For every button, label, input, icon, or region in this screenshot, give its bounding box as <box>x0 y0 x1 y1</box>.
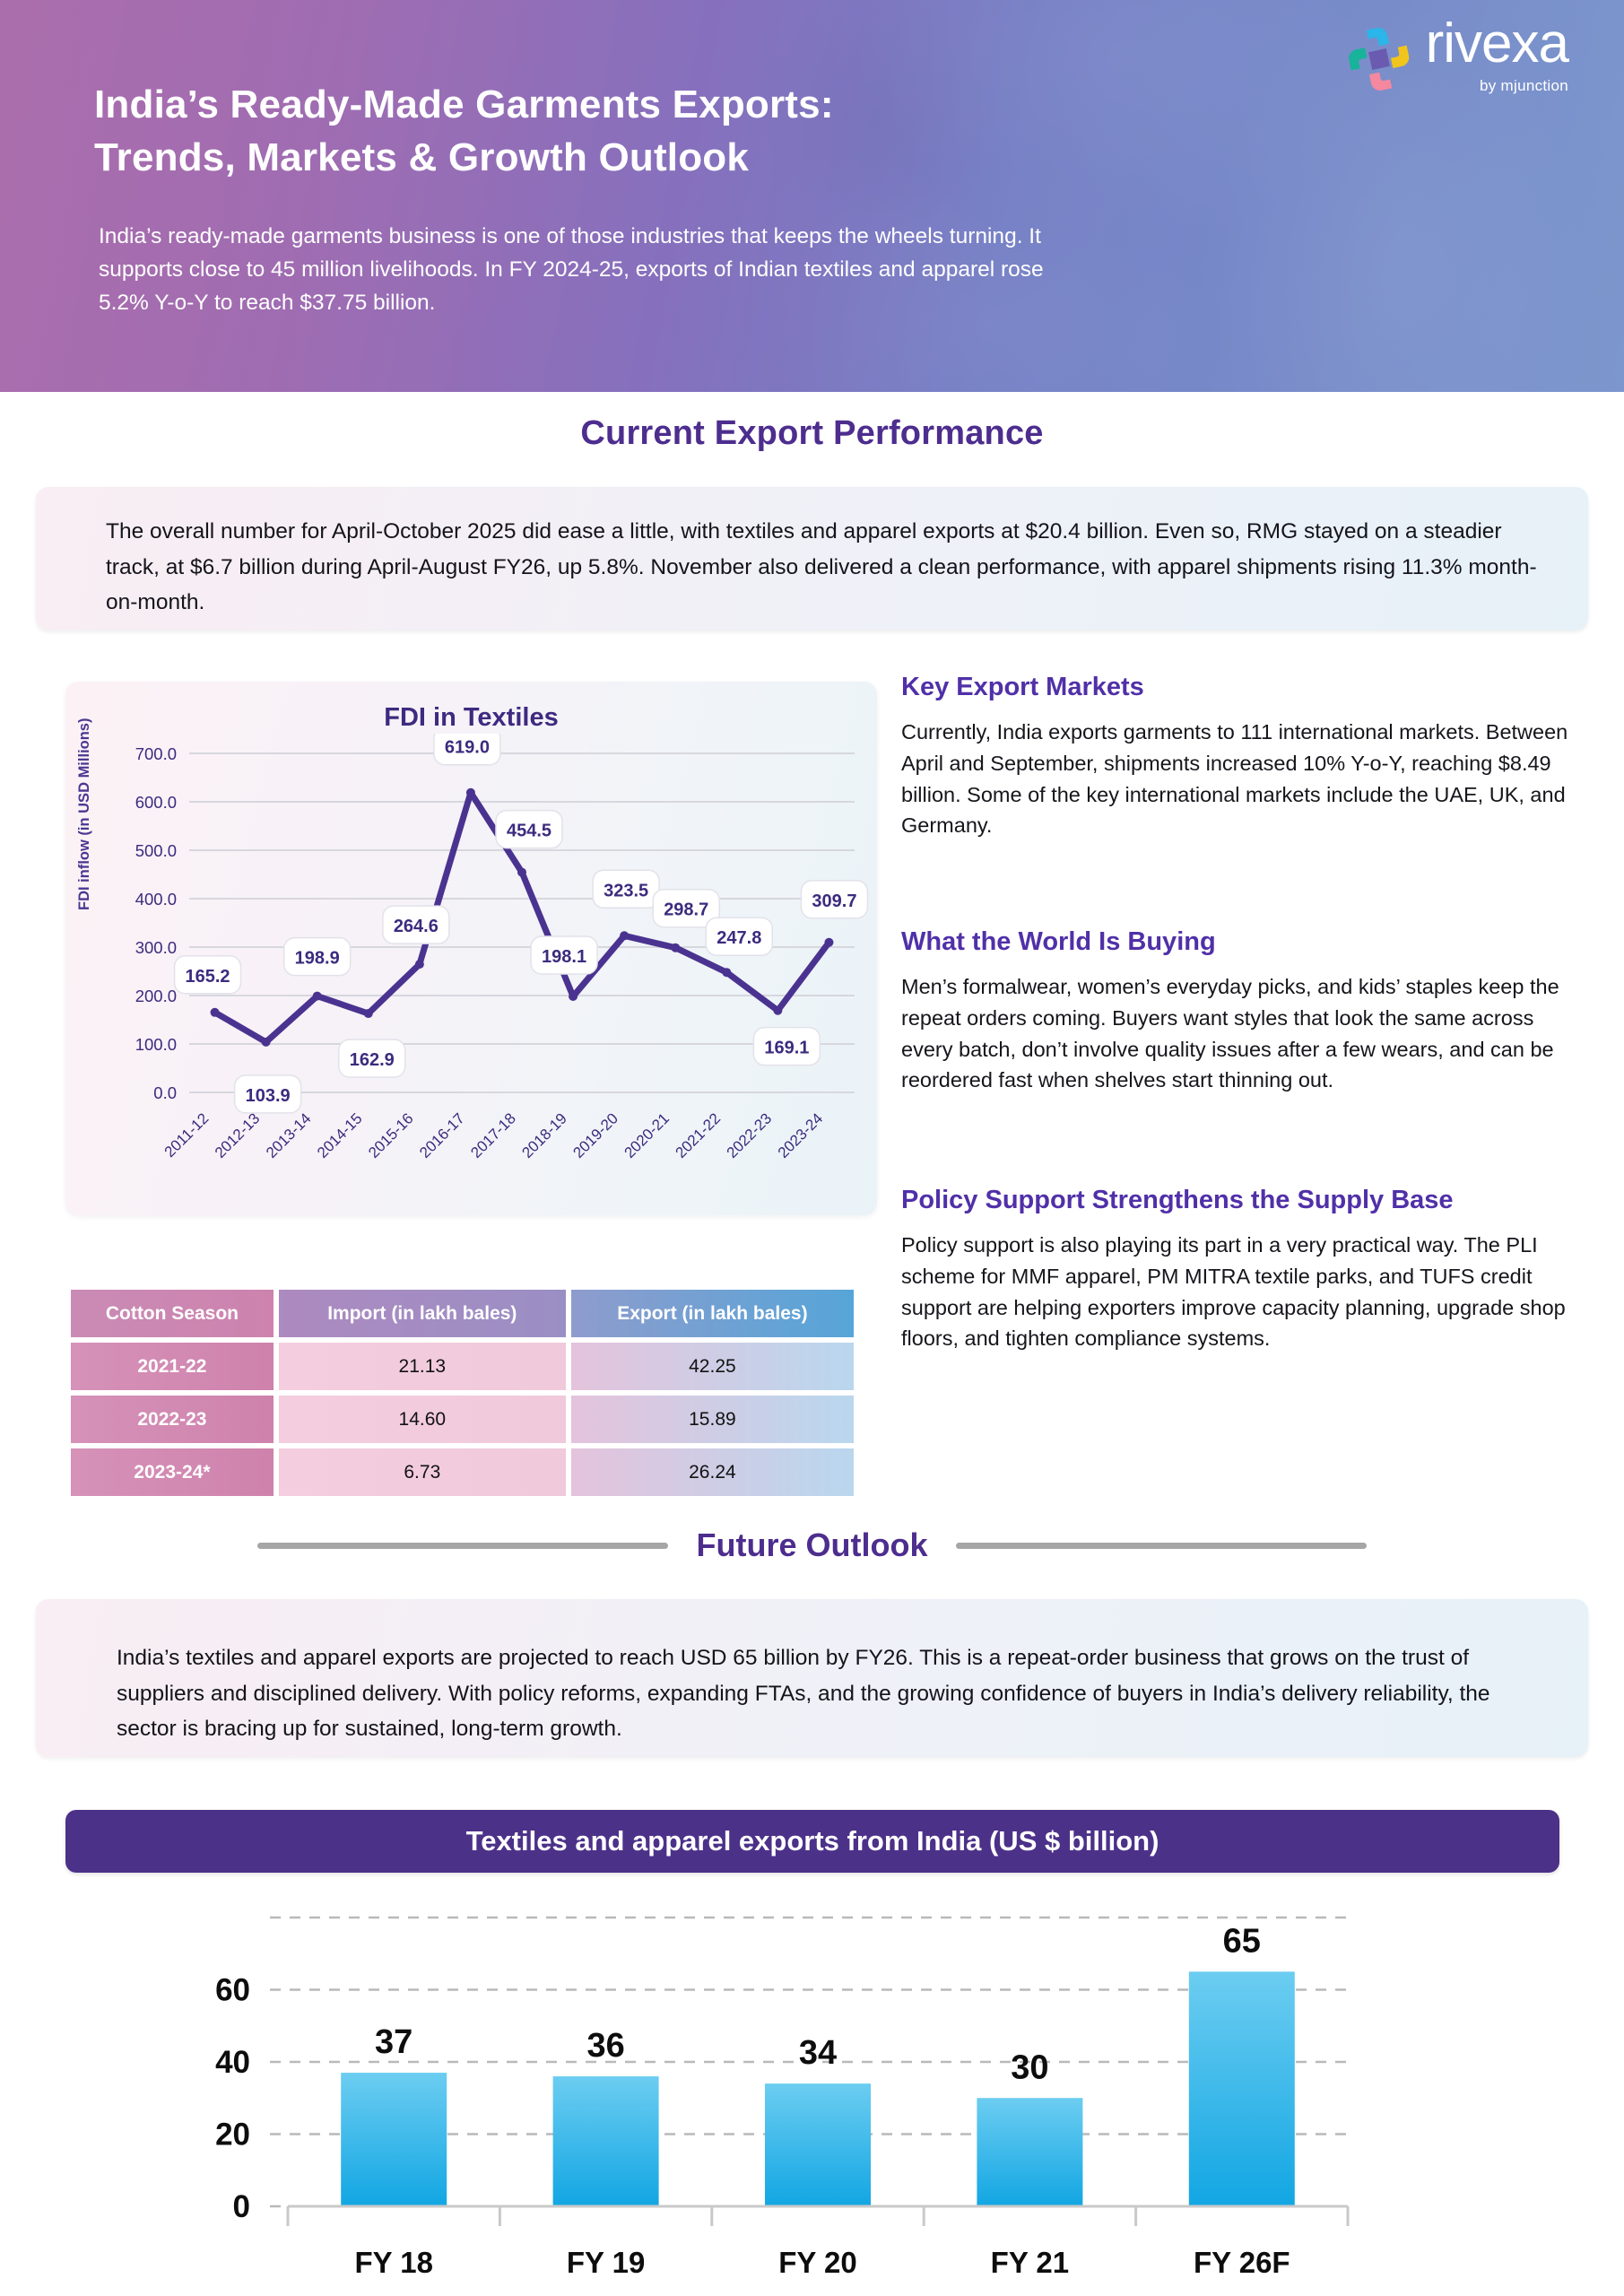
header-subtitle: India’s ready-made garments business is … <box>99 220 1094 320</box>
svg-text:103.9: 103.9 <box>246 1086 291 1106</box>
section-heading-current-export-performance: Current Export Performance <box>0 414 1624 453</box>
cell-season: 2022-23 <box>71 1396 274 1443</box>
svg-text:FY 19: FY 19 <box>567 2246 645 2279</box>
cell-season: 2023-24* <box>71 1448 274 1496</box>
svg-text:2023-24: 2023-24 <box>775 1109 827 1161</box>
svg-text:619.0: 619.0 <box>445 738 490 758</box>
svg-text:2019-20: 2019-20 <box>569 1109 621 1161</box>
svg-text:100.0: 100.0 <box>135 1035 177 1054</box>
table-row: 2022-23 14.60 15.89 <box>71 1396 854 1443</box>
brand-logo[interactable]: rivexa by mjunction <box>1347 16 1568 95</box>
key-export-markets-heading: Key Export Markets <box>901 671 1578 704</box>
svg-text:2022-23: 2022-23 <box>724 1109 776 1161</box>
bar-x-tick-labels: FY 18FY 19FY 20FY 21FY 26F <box>354 2246 1290 2279</box>
page-header: India’s Ready-Made Garments Exports: Tre… <box>0 0 1624 392</box>
pinwheel-logo-icon <box>1347 25 1411 93</box>
svg-text:454.5: 454.5 <box>507 822 551 841</box>
fdi-data-labels: 165.2103.9198.9162.9264.6619.0454.5198.1… <box>175 734 868 1113</box>
policy-support-heading: Policy Support Strengthens the Supply Ba… <box>901 1184 1578 1217</box>
svg-text:700.0: 700.0 <box>135 744 177 763</box>
bar-y-tick-labels: 0204060 <box>215 1973 250 2225</box>
svg-text:FY 20: FY 20 <box>778 2246 856 2279</box>
svg-text:60: 60 <box>215 1973 250 2008</box>
fdi-in-textiles-chart-card: FDI in Textiles FDI inflow (in USD Milli… <box>65 682 877 1215</box>
bar-chart-title-bar: Textiles and apparel exports from India … <box>65 1810 1559 1873</box>
svg-text:200.0: 200.0 <box>135 987 177 1005</box>
svg-text:0: 0 <box>233 2189 250 2224</box>
cell-import: 14.60 <box>279 1396 566 1443</box>
svg-text:198.9: 198.9 <box>295 949 340 969</box>
column-header-import: Import (in lakh bales) <box>279 1290 566 1337</box>
svg-text:264.6: 264.6 <box>394 917 439 936</box>
fdi-chart-title: FDI in Textiles <box>65 682 877 733</box>
svg-text:FY 18: FY 18 <box>354 2246 432 2279</box>
svg-text:2020-21: 2020-21 <box>621 1109 673 1161</box>
svg-text:FY 26F: FY 26F <box>1194 2246 1290 2279</box>
svg-text:2021-22: 2021-22 <box>673 1109 725 1161</box>
what-the-world-is-buying-block: What the World Is Buying Men’s formalwea… <box>901 926 1578 1096</box>
page-title-line-1: India’s Ready-Made Garments Exports: <box>94 79 1152 132</box>
svg-text:20: 20 <box>215 2118 250 2152</box>
divider-right <box>956 1543 1367 1549</box>
svg-text:40: 40 <box>215 2045 250 2080</box>
svg-text:198.1: 198.1 <box>542 947 586 967</box>
svg-text:30: 30 <box>1011 2048 1048 2086</box>
svg-text:2012-13: 2012-13 <box>212 1109 264 1161</box>
cell-export: 15.89 <box>571 1396 854 1443</box>
what-the-world-is-buying-heading: What the World Is Buying <box>901 926 1578 959</box>
current-export-performance-body: The overall number for April-October 202… <box>36 487 1588 621</box>
bar-chart-title: Textiles and apparel exports from India … <box>466 1825 1159 1857</box>
svg-text:2015-16: 2015-16 <box>365 1109 417 1161</box>
svg-text:600.0: 600.0 <box>135 793 177 812</box>
cell-export: 26.24 <box>571 1448 854 1496</box>
cotton-season-table: Cotton Season Import (in lakh bales) Exp… <box>65 1284 859 1501</box>
what-the-world-is-buying-body: Men’s formalwear, women’s everyday picks… <box>901 971 1578 1096</box>
svg-text:323.5: 323.5 <box>604 881 648 900</box>
svg-text:2017-18: 2017-18 <box>467 1109 519 1161</box>
svg-text:2014-15: 2014-15 <box>314 1109 366 1161</box>
future-outlook-body: India’s textiles and apparel exports are… <box>36 1599 1588 1747</box>
svg-text:400.0: 400.0 <box>135 890 177 909</box>
page-title: India’s Ready-Made Garments Exports: Tre… <box>94 79 1152 184</box>
column-header-export: Export (in lakh bales) <box>571 1290 854 1337</box>
policy-support-body: Policy support is also playing its part … <box>901 1230 1578 1354</box>
svg-text:2018-19: 2018-19 <box>518 1109 570 1161</box>
svg-text:300.0: 300.0 <box>135 938 177 957</box>
svg-text:37: 37 <box>375 2023 413 2061</box>
svg-text:247.8: 247.8 <box>716 928 761 948</box>
key-export-markets-block: Key Export Markets Currently, India expo… <box>901 671 1578 841</box>
future-outlook-card: India’s textiles and apparel exports are… <box>36 1599 1588 1757</box>
svg-text:309.7: 309.7 <box>812 891 856 911</box>
svg-text:162.9: 162.9 <box>350 1050 395 1070</box>
cell-season: 2021-22 <box>71 1343 274 1390</box>
fdi-line-chart: 0.0100.0200.0300.0400.0500.0600.0700.0 1… <box>65 734 877 1215</box>
current-export-performance-card: The overall number for April-October 202… <box>36 487 1588 631</box>
divider-left <box>257 1543 668 1549</box>
column-header-cotton-season: Cotton Season <box>71 1290 274 1337</box>
textiles-exports-bar-chart: 0204060 3736343065 FY 18FY 19FY 20FY 21F… <box>65 1892 1559 2287</box>
svg-text:165.2: 165.2 <box>186 967 230 987</box>
svg-text:36: 36 <box>586 2027 624 2065</box>
page-title-line-2: Trends, Markets & Growth Outlook <box>94 132 1152 185</box>
table-row: 2021-22 21.13 42.25 <box>71 1343 854 1390</box>
policy-support-block: Policy Support Strengthens the Supply Ba… <box>901 1184 1578 1354</box>
svg-text:65: 65 <box>1223 1922 1261 1960</box>
svg-text:34: 34 <box>799 2034 837 2072</box>
brand-name: rivexa <box>1426 16 1568 72</box>
svg-text:298.7: 298.7 <box>664 900 708 920</box>
cell-export: 42.25 <box>571 1343 854 1390</box>
brand-tagline: by mjunction <box>1426 77 1568 95</box>
table-row: 2023-24* 6.73 26.24 <box>71 1448 854 1496</box>
svg-text:FY 21: FY 21 <box>991 2246 1069 2279</box>
table-header-row: Cotton Season Import (in lakh bales) Exp… <box>71 1290 854 1337</box>
future-outlook-heading-row: Future Outlook <box>0 1526 1624 1564</box>
svg-text:169.1: 169.1 <box>764 1039 809 1058</box>
section-heading-future-outlook: Future Outlook <box>697 1526 928 1564</box>
svg-text:2011-12: 2011-12 <box>161 1109 213 1161</box>
key-export-markets-body: Currently, India exports garments to 111… <box>901 717 1578 841</box>
bar-series <box>341 1971 1295 2206</box>
svg-text:2016-17: 2016-17 <box>416 1109 468 1161</box>
bar-x-axis <box>288 2206 1348 2226</box>
svg-text:0.0: 0.0 <box>153 1083 177 1102</box>
svg-text:2013-14: 2013-14 <box>263 1109 315 1161</box>
fdi-x-tick-labels: 2011-122012-132013-142014-152015-162016-… <box>161 1109 827 1161</box>
fdi-y-tick-labels: 0.0100.0200.0300.0400.0500.0600.0700.0 <box>135 744 177 1102</box>
cell-import: 21.13 <box>279 1343 566 1390</box>
svg-text:500.0: 500.0 <box>135 841 177 860</box>
cell-import: 6.73 <box>279 1448 566 1496</box>
